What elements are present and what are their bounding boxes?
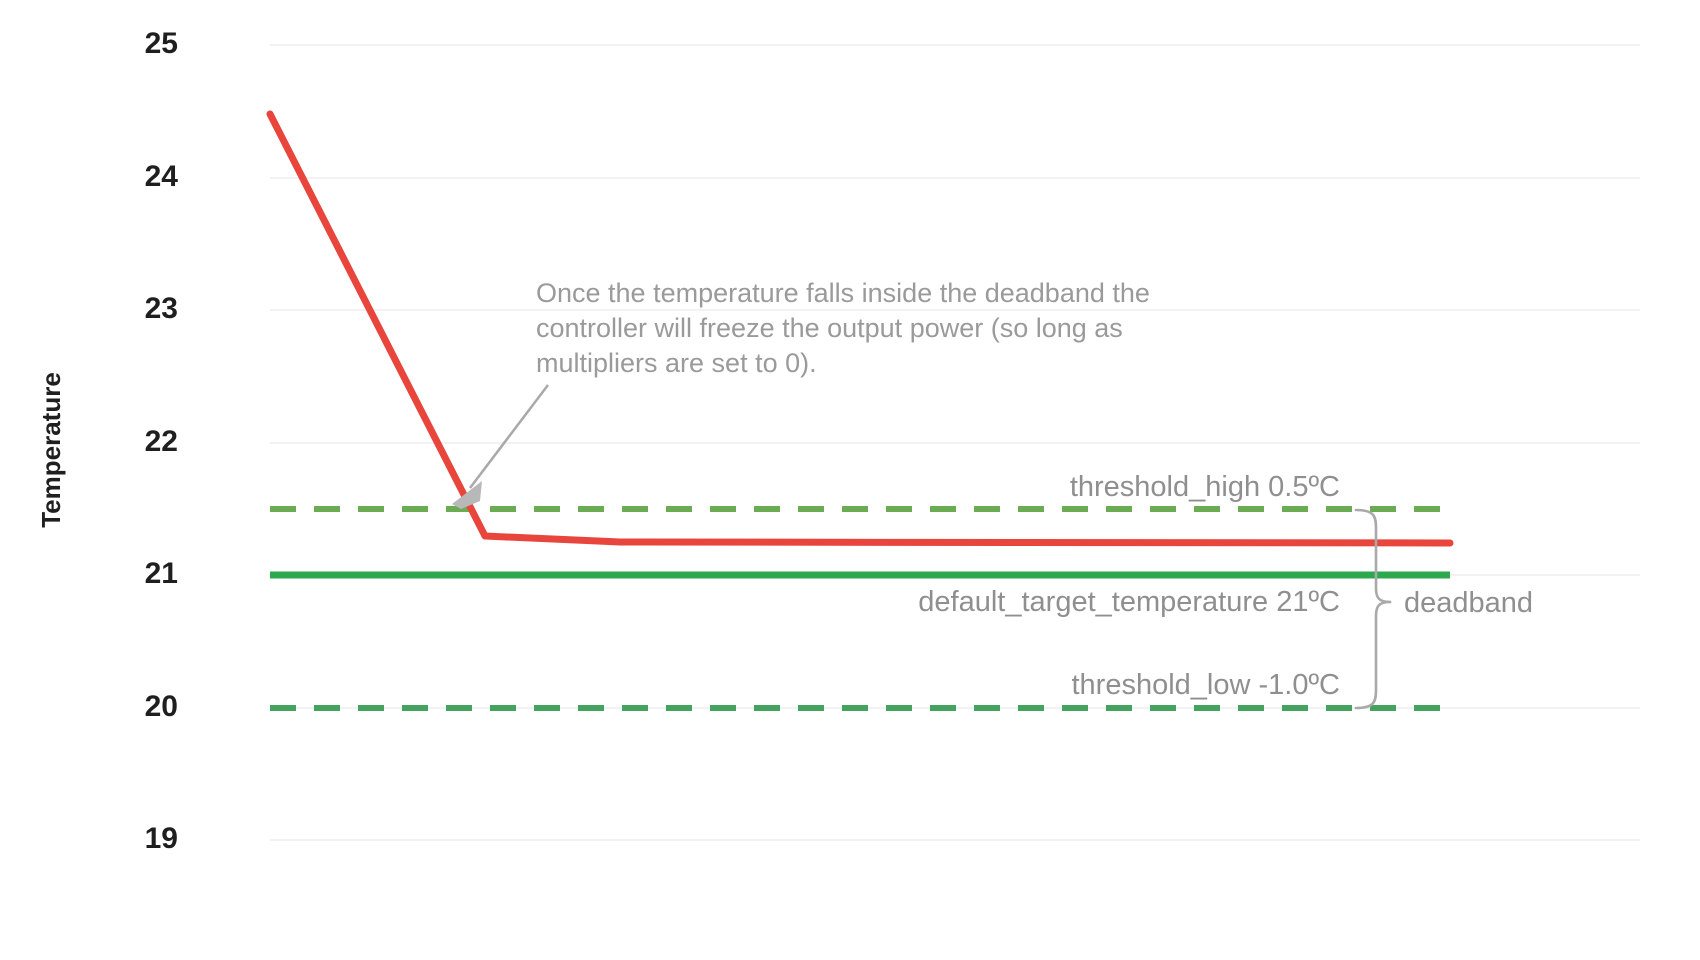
ytick-label-19: 19 xyxy=(145,822,178,855)
ytick-label-24: 24 xyxy=(145,160,179,193)
chart-canvas: 25 24 23 22 21 20 19 Temperature Once th… xyxy=(0,0,1700,960)
threshold-high-label: threshold_high 0.5ºC xyxy=(1070,471,1340,503)
arrow-shaft xyxy=(470,385,548,488)
ytick-label-25: 25 xyxy=(145,27,178,60)
ytick-label-23: 23 xyxy=(145,292,178,325)
annotation-line-2: controller will freeze the output power … xyxy=(536,313,1123,343)
default-target-label: default_target_temperature 21ºC xyxy=(918,586,1340,618)
gridlines xyxy=(270,45,1640,840)
y-axis-ticks: 25 24 23 22 21 20 19 xyxy=(145,27,179,855)
annotation-line-3: multipliers are set to 0). xyxy=(536,348,817,378)
annotation-arrow xyxy=(452,385,548,509)
ytick-label-22: 22 xyxy=(145,425,178,458)
ytick-label-20: 20 xyxy=(145,690,178,723)
annotation-block: Once the temperature falls inside the de… xyxy=(536,278,1150,378)
y-axis-title: Temperature xyxy=(36,372,66,528)
threshold-low-label: threshold_low -1.0ºC xyxy=(1071,669,1340,701)
deadband-label: deadband xyxy=(1404,587,1533,619)
annotation-line-1: Once the temperature falls inside the de… xyxy=(536,278,1150,308)
temperature-deadband-chart: 25 24 23 22 21 20 19 Temperature Once th… xyxy=(0,0,1700,960)
ytick-label-21: 21 xyxy=(145,557,178,590)
